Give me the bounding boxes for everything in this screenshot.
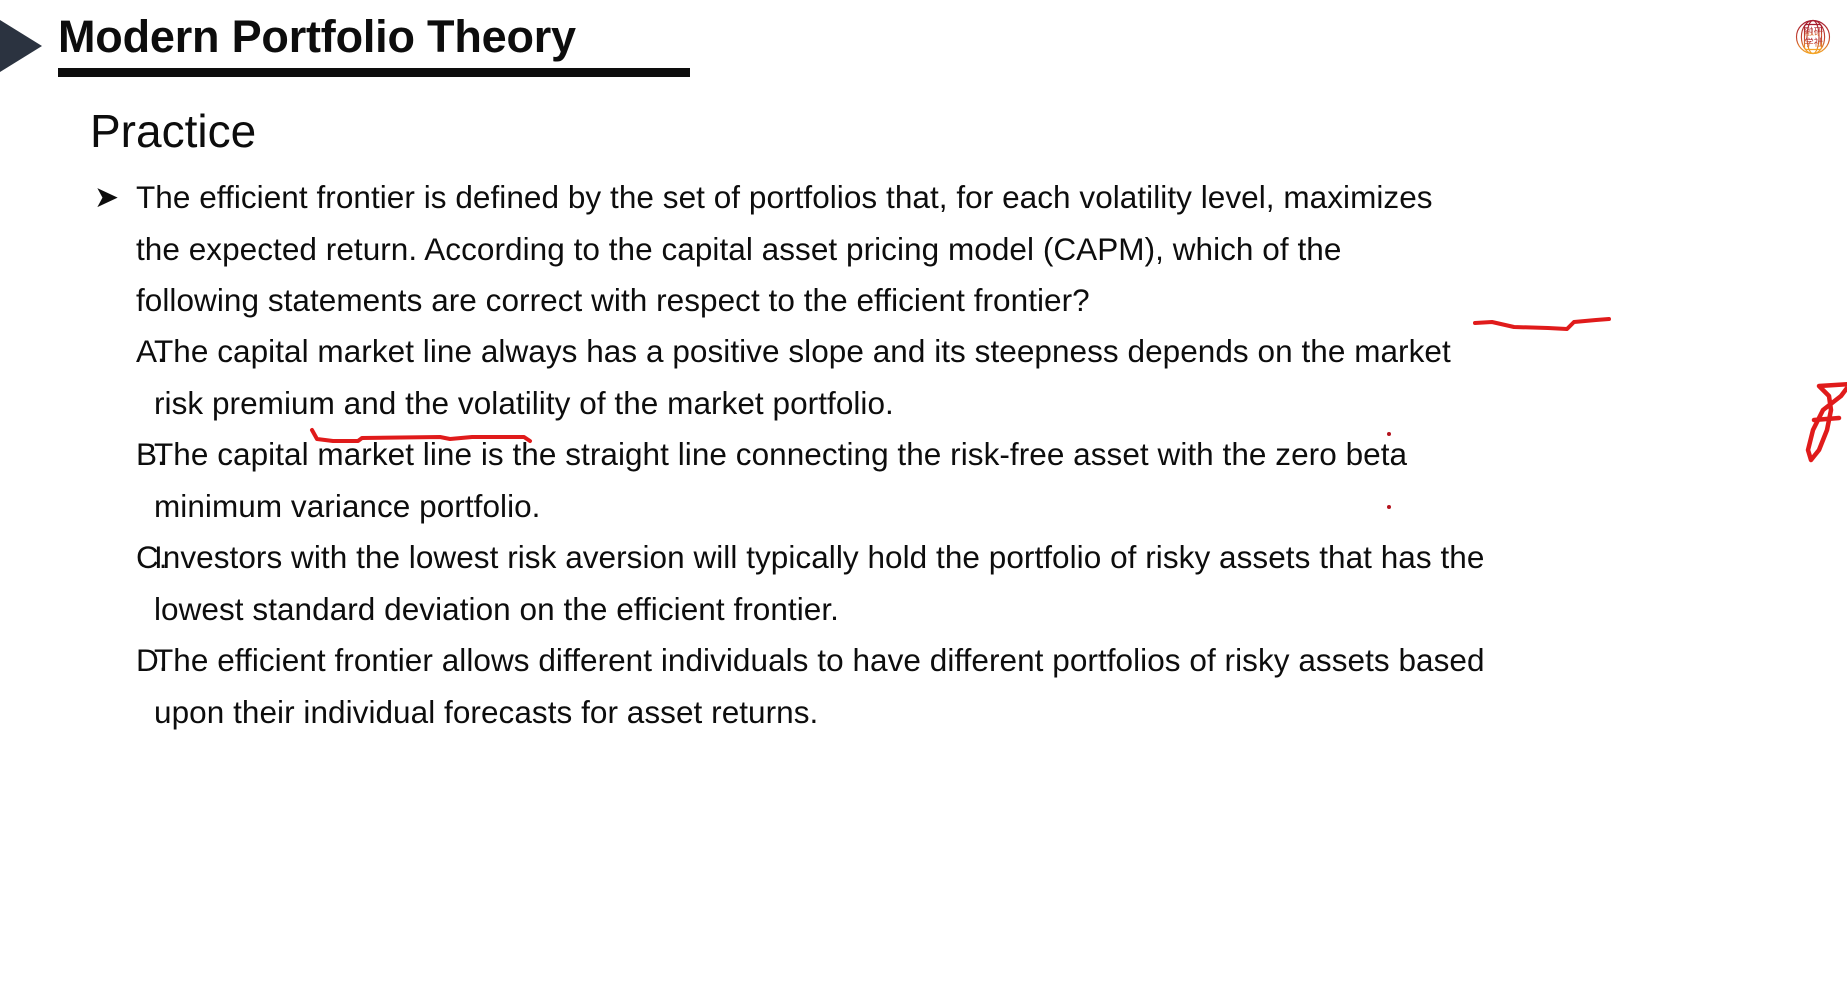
slide-canvas: Modern Portfolio Theory: [0, 0, 1847, 1000]
option-d-letter: D.: [88, 635, 154, 687]
svg-text:社: 社: [1814, 37, 1824, 49]
question-row: ➤ The efficient frontier is defined by t…: [88, 172, 1468, 327]
option-d[interactable]: D. The efficient frontier allows differe…: [88, 635, 1488, 738]
question-text: The efficient frontier is defined by the…: [136, 172, 1468, 327]
option-a-letter: A.: [88, 326, 154, 378]
option-a-text: The capital market line always has a pos…: [154, 326, 1488, 429]
globe-seal-logo: 融 研 学 社: [1789, 13, 1837, 61]
options-list: A. The capital market line always has a …: [88, 326, 1488, 738]
option-b-text: The capital market line is the straight …: [154, 429, 1488, 532]
option-a[interactable]: A. The capital market line always has a …: [88, 326, 1488, 429]
svg-text:研: 研: [1814, 27, 1824, 38]
option-b-letter: B.: [88, 429, 154, 481]
option-c-text: Investors with the lowest risk aversion …: [154, 532, 1488, 635]
svg-text:融: 融: [1804, 27, 1814, 38]
title-underline-rule: [58, 68, 690, 77]
ink-dot-upper: [1387, 432, 1391, 436]
arrow-bullet-icon: ➤: [88, 172, 136, 224]
option-b[interactable]: B. The capital market line is the straig…: [88, 429, 1488, 532]
ink-dot-lower: [1387, 505, 1391, 509]
option-c-letter: C.: [88, 532, 154, 584]
question-block: ➤ The efficient frontier is defined by t…: [88, 172, 1468, 327]
section-heading: Practice: [90, 105, 256, 158]
header-arrow-icon: [0, 20, 42, 72]
option-c[interactable]: C. Investors with the lowest risk aversi…: [88, 532, 1488, 635]
svg-text:学: 学: [1804, 37, 1814, 49]
underline-capm-annotation: [1470, 305, 1620, 335]
option-d-text: The efficient frontier allows different …: [154, 635, 1488, 738]
title-block: Modern Portfolio Theory: [58, 12, 758, 77]
handwritten-mark-right-annotation: [1795, 378, 1847, 478]
slide-title: Modern Portfolio Theory: [58, 12, 758, 62]
